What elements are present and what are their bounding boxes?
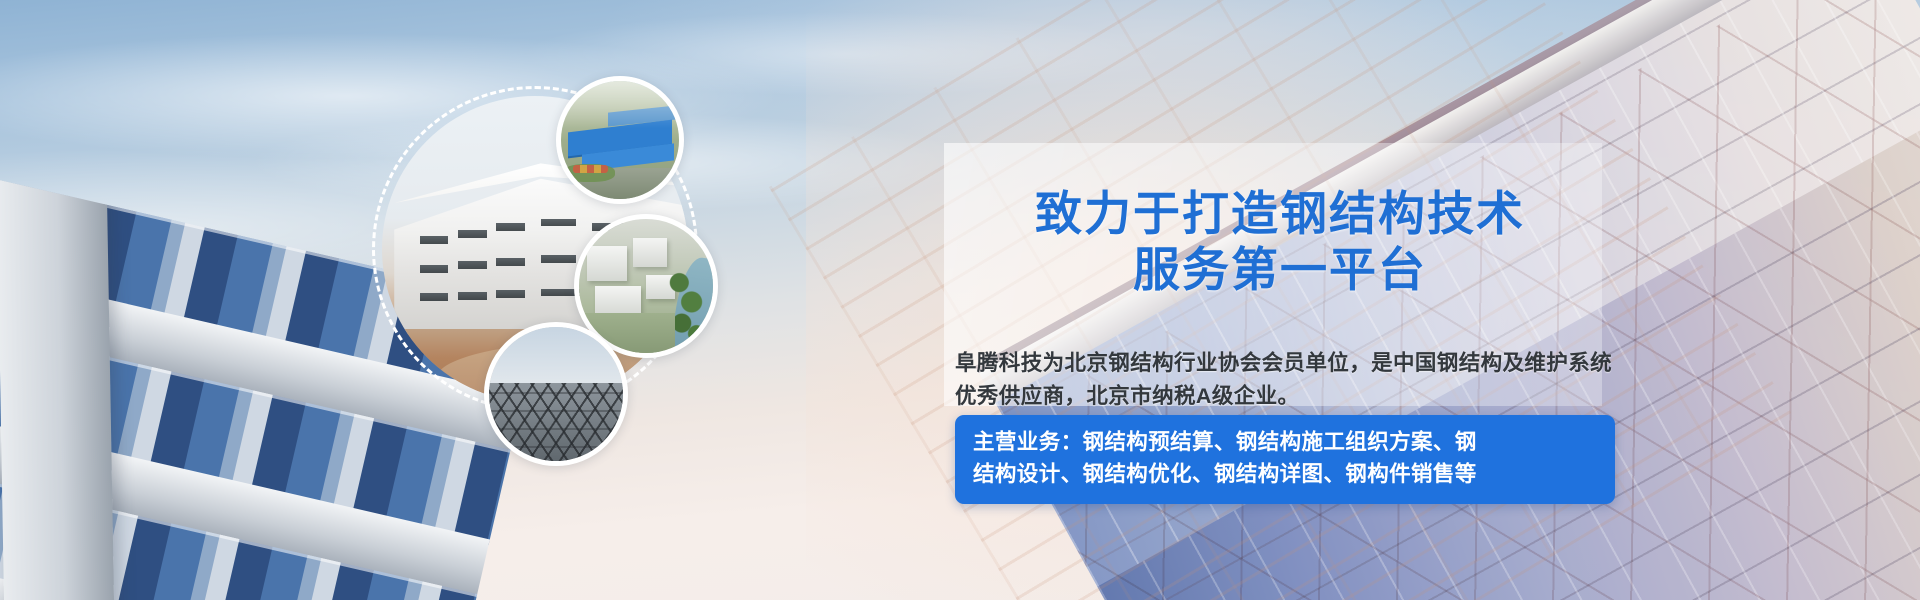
business-line-2: 结构设计、钢结构优化、钢结构详图、钢构件销售等 xyxy=(973,458,1597,490)
banner-subtitle: 阜腾科技为北京钢结构行业协会会员单位，是中国钢结构及维护系统优秀供应商，北京市纳… xyxy=(955,347,1615,414)
headline-line-1: 致力于打造钢结构技术 xyxy=(1035,187,1525,242)
window xyxy=(458,261,487,269)
window xyxy=(496,223,525,231)
window xyxy=(458,230,487,238)
aerial-factory-blue-roof-photo xyxy=(561,81,679,199)
window xyxy=(420,293,449,301)
steel-truss-structure-photo xyxy=(489,327,623,461)
business-line-1: 主营业务：钢结构预结算、钢结构施工组织方案、钢 xyxy=(973,426,1597,458)
office-block xyxy=(587,246,627,281)
headline-line-2: 服务第一平台 xyxy=(960,243,1600,298)
subtitle-line-1: 阜腾科技为北京钢结构行业协会会员单位，是中国钢结构及维 xyxy=(955,351,1546,375)
window xyxy=(458,292,487,300)
window xyxy=(420,236,449,244)
window xyxy=(496,258,525,266)
banner-headline: 致力于打造钢结构技术服务第一平台 xyxy=(960,187,1600,298)
hero-banner: 致力于打造钢结构技术服务第一平台 阜腾科技为北京钢结构行业协会会员单位，是中国钢… xyxy=(0,0,1920,600)
office-block xyxy=(633,238,668,267)
space-frame-truss xyxy=(484,383,628,466)
window xyxy=(420,265,449,273)
window xyxy=(496,290,525,298)
main-business-box: 主营业务：钢结构预结算、钢结构施工组织方案、钢结构设计、钢结构优化、钢结构详图、… xyxy=(955,415,1615,504)
haze-overlay xyxy=(561,81,679,199)
photo-sky xyxy=(489,327,623,391)
window xyxy=(541,219,576,227)
thumb-circle-steel-truss xyxy=(484,322,628,466)
office-block xyxy=(595,286,641,315)
thumb-circle-aerial-factory xyxy=(556,76,684,204)
window xyxy=(541,255,576,263)
